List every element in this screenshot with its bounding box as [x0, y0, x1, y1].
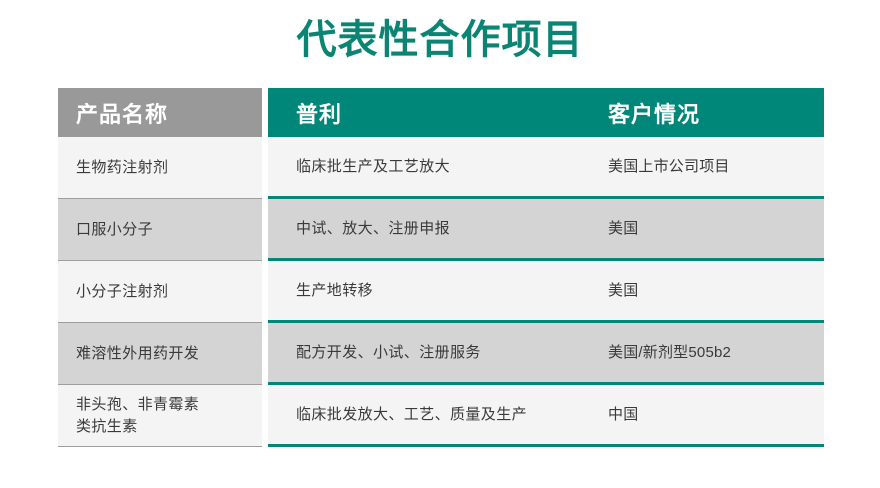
cell-text-product: 口服小分子	[76, 219, 153, 241]
table-header-cell-product: 产品名称	[58, 88, 262, 137]
projects-table: 产品名称 普利 客户情况 生物药注射剂 临床批生产及工艺放大	[58, 88, 824, 447]
table-cell-customer: 美国/新剂型505b2	[598, 323, 824, 382]
table-header-row: 产品名称 普利 客户情况	[58, 88, 824, 137]
table-cell-puli: 临床批发放大、工艺、质量及生产	[268, 385, 598, 444]
table-header-label-customer: 客户情况	[608, 97, 700, 129]
table-cell-customer: 美国	[598, 261, 824, 320]
table-row: 小分子注射剂 生产地转移 美国	[58, 261, 824, 323]
table-row-band: 配方开发、小试、注册服务 美国/新剂型505b2	[268, 323, 824, 385]
table-row: 难溶性外用药开发 配方开发、小试、注册服务 美国/新剂型505b2	[58, 323, 824, 385]
cell-text-product: 非头孢、非青霉素 类抗生素	[76, 394, 199, 438]
cell-text-product: 生物药注射剂	[76, 157, 168, 179]
cell-text-product: 小分子注射剂	[76, 281, 168, 303]
table-cell-product: 口服小分子	[58, 199, 262, 261]
cell-text-customer: 美国上市公司项目	[608, 156, 730, 178]
table-row-band: 中试、放大、注册申报 美国	[268, 199, 824, 261]
table-row: 口服小分子 中试、放大、注册申报 美国	[58, 199, 824, 261]
table-cell-puli: 生产地转移	[268, 261, 598, 320]
table-row-band: 生产地转移 美国	[268, 261, 824, 323]
slide-root: 代表性合作项目 产品名称 普利 客户情况 生物药注射剂	[0, 0, 880, 488]
table-cell-customer: 美国上市公司项目	[598, 137, 824, 196]
cell-text-puli: 中试、放大、注册申报	[296, 218, 450, 240]
table-cell-customer: 中国	[598, 385, 824, 444]
table-cell-customer: 美国	[598, 199, 824, 258]
table-row: 生物药注射剂 临床批生产及工艺放大 美国上市公司项目	[58, 137, 824, 199]
table-header-label-product: 产品名称	[76, 97, 168, 129]
table-cell-puli: 临床批生产及工艺放大	[268, 137, 598, 196]
table-cell-product: 难溶性外用药开发	[58, 323, 262, 385]
cell-text-puli: 临床批发放大、工艺、质量及生产	[296, 404, 527, 426]
table-cell-puli: 配方开发、小试、注册服务	[268, 323, 598, 382]
table-cell-product: 非头孢、非青霉素 类抗生素	[58, 385, 262, 447]
page-title: 代表性合作项目	[0, 18, 880, 62]
table-header-label-puli: 普利	[296, 97, 342, 129]
cell-text-puli: 生产地转移	[296, 280, 373, 302]
cell-text-customer: 美国	[608, 280, 638, 302]
table-row-band: 临床批生产及工艺放大 美国上市公司项目	[268, 137, 824, 199]
table-header-cell-customer: 客户情况	[598, 88, 824, 137]
table-cell-puli: 中试、放大、注册申报	[268, 199, 598, 258]
cell-text-customer: 美国/新剂型505b2	[608, 342, 731, 364]
cell-text-puli: 配方开发、小试、注册服务	[296, 342, 481, 364]
table-header-band: 普利 客户情况	[268, 88, 824, 137]
table-row-band: 临床批发放大、工艺、质量及生产 中国	[268, 385, 824, 447]
cell-text-puli: 临床批生产及工艺放大	[296, 156, 450, 178]
cell-text-customer: 美国	[608, 218, 638, 240]
table-cell-product: 生物药注射剂	[58, 137, 262, 199]
cell-text-customer: 中国	[608, 404, 638, 426]
table-cell-product: 小分子注射剂	[58, 261, 262, 323]
cell-text-product: 难溶性外用药开发	[76, 343, 199, 365]
table-row: 非头孢、非青霉素 类抗生素 临床批发放大、工艺、质量及生产 中国	[58, 385, 824, 447]
table-header-cell-puli: 普利	[268, 88, 598, 137]
